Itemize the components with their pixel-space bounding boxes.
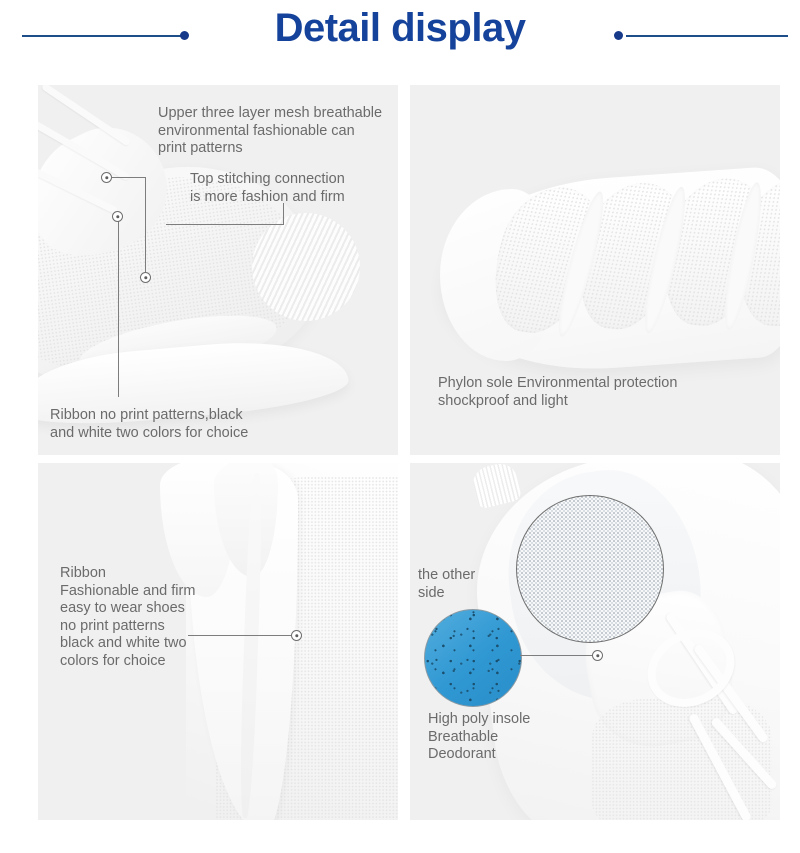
caption-ribbon-collar: Ribbon Fashionable and firm easy to wear… (60, 565, 280, 670)
callout-marker-ribbon[interactable] (112, 211, 123, 222)
caption-ribbon: Ribbon no print patterns,black and white… (50, 407, 330, 442)
panel-upper-mesh[interactable]: Upper three layer mesh breathable enviro… (38, 85, 398, 455)
detail-panel-grid: Upper three layer mesh breathable enviro… (38, 85, 780, 820)
header-rule-right-line (626, 35, 788, 37)
leader-line-1 (112, 177, 146, 178)
callout-marker-upper[interactable] (101, 172, 112, 183)
callout-marker-collar[interactable] (291, 630, 302, 641)
callout-marker-stitch[interactable] (140, 272, 151, 283)
callout-marker-insole[interactable] (592, 650, 603, 661)
page-title: Detail display (0, 6, 800, 51)
leader-line-insole (520, 655, 594, 656)
leader-line-3 (166, 224, 284, 225)
caption-phylon-sole: Phylon sole Environmental protection sho… (438, 375, 778, 410)
caption-other-side: the other side (418, 567, 538, 602)
leader-line-6 (145, 225, 146, 277)
caption-upper-mesh: Upper three layer mesh breathable enviro… (158, 105, 398, 158)
insole-color-circle (424, 609, 522, 707)
panel-insole[interactable]: the other side High poly insole Breathab… (410, 463, 780, 820)
leader-line-4 (283, 203, 284, 225)
panel-ribbon-collar[interactable]: Ribbon Fashionable and firm easy to wear… (38, 463, 398, 820)
panel-phylon-sole[interactable]: Phylon sole Environmental protection sho… (410, 85, 780, 455)
header-rule-right (608, 34, 788, 37)
leader-line-5 (118, 217, 119, 397)
caption-high-poly-insole: High poly insole Breathable Deodorant (428, 711, 608, 764)
mesh-texture-circle (516, 495, 664, 643)
caption-top-stitching: Top stitching connection is more fashion… (190, 171, 398, 206)
leader-line-2 (145, 177, 146, 225)
stitch-texture-circle (252, 213, 360, 321)
page-header: Detail display (0, 0, 800, 72)
header-rule-right-dot (614, 31, 623, 40)
